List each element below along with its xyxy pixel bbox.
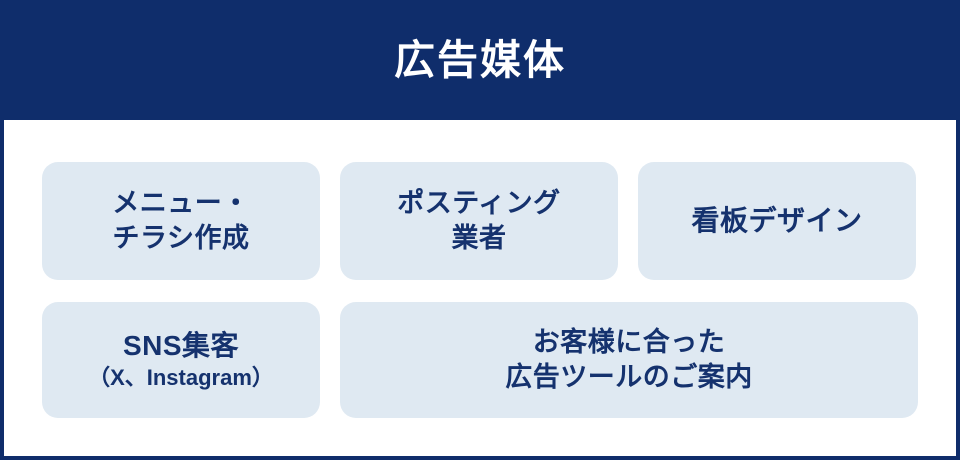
card-label: 看板デザイン [691, 203, 862, 239]
card-label: メニュー・ チラシ作成 [112, 186, 250, 255]
card-grid: メニュー・ チラシ作成 ポスティング 業者 看板デザイン SNS集客 （X、In… [42, 162, 918, 418]
card-menu-flyer-creation[interactable]: メニュー・ チラシ作成 [42, 162, 320, 280]
card-row-1: メニュー・ チラシ作成 ポスティング 業者 看板デザイン [42, 162, 918, 280]
card-label: ポスティング 業者 [397, 186, 560, 255]
card-label-group: SNS集客 （X、Instagram） [88, 328, 274, 392]
card-row-2: SNS集客 （X、Instagram） お客様に合った 広告ツールのご案内 [42, 302, 918, 418]
ad-media-panel: 広告媒体 メニュー・ チラシ作成 ポスティング 業者 看板デザイン SNS集客 [0, 0, 960, 460]
card-signboard-design[interactable]: 看板デザイン [638, 162, 916, 280]
panel-header: 広告媒体 [0, 0, 960, 120]
card-label: SNS集客 [123, 330, 239, 361]
card-label: お客様に合った 広告ツールのご案内 [505, 325, 753, 394]
page-title: 広告媒体 [394, 40, 566, 81]
card-sublabel: （X、Instagram） [88, 364, 274, 393]
card-ad-tool-guidance[interactable]: お客様に合った 広告ツールのご案内 [340, 302, 918, 418]
panel-body: メニュー・ チラシ作成 ポスティング 業者 看板デザイン SNS集客 （X、In… [0, 120, 960, 460]
card-sns-customer-acquisition[interactable]: SNS集客 （X、Instagram） [42, 302, 320, 418]
card-posting-vendor[interactable]: ポスティング 業者 [340, 162, 618, 280]
